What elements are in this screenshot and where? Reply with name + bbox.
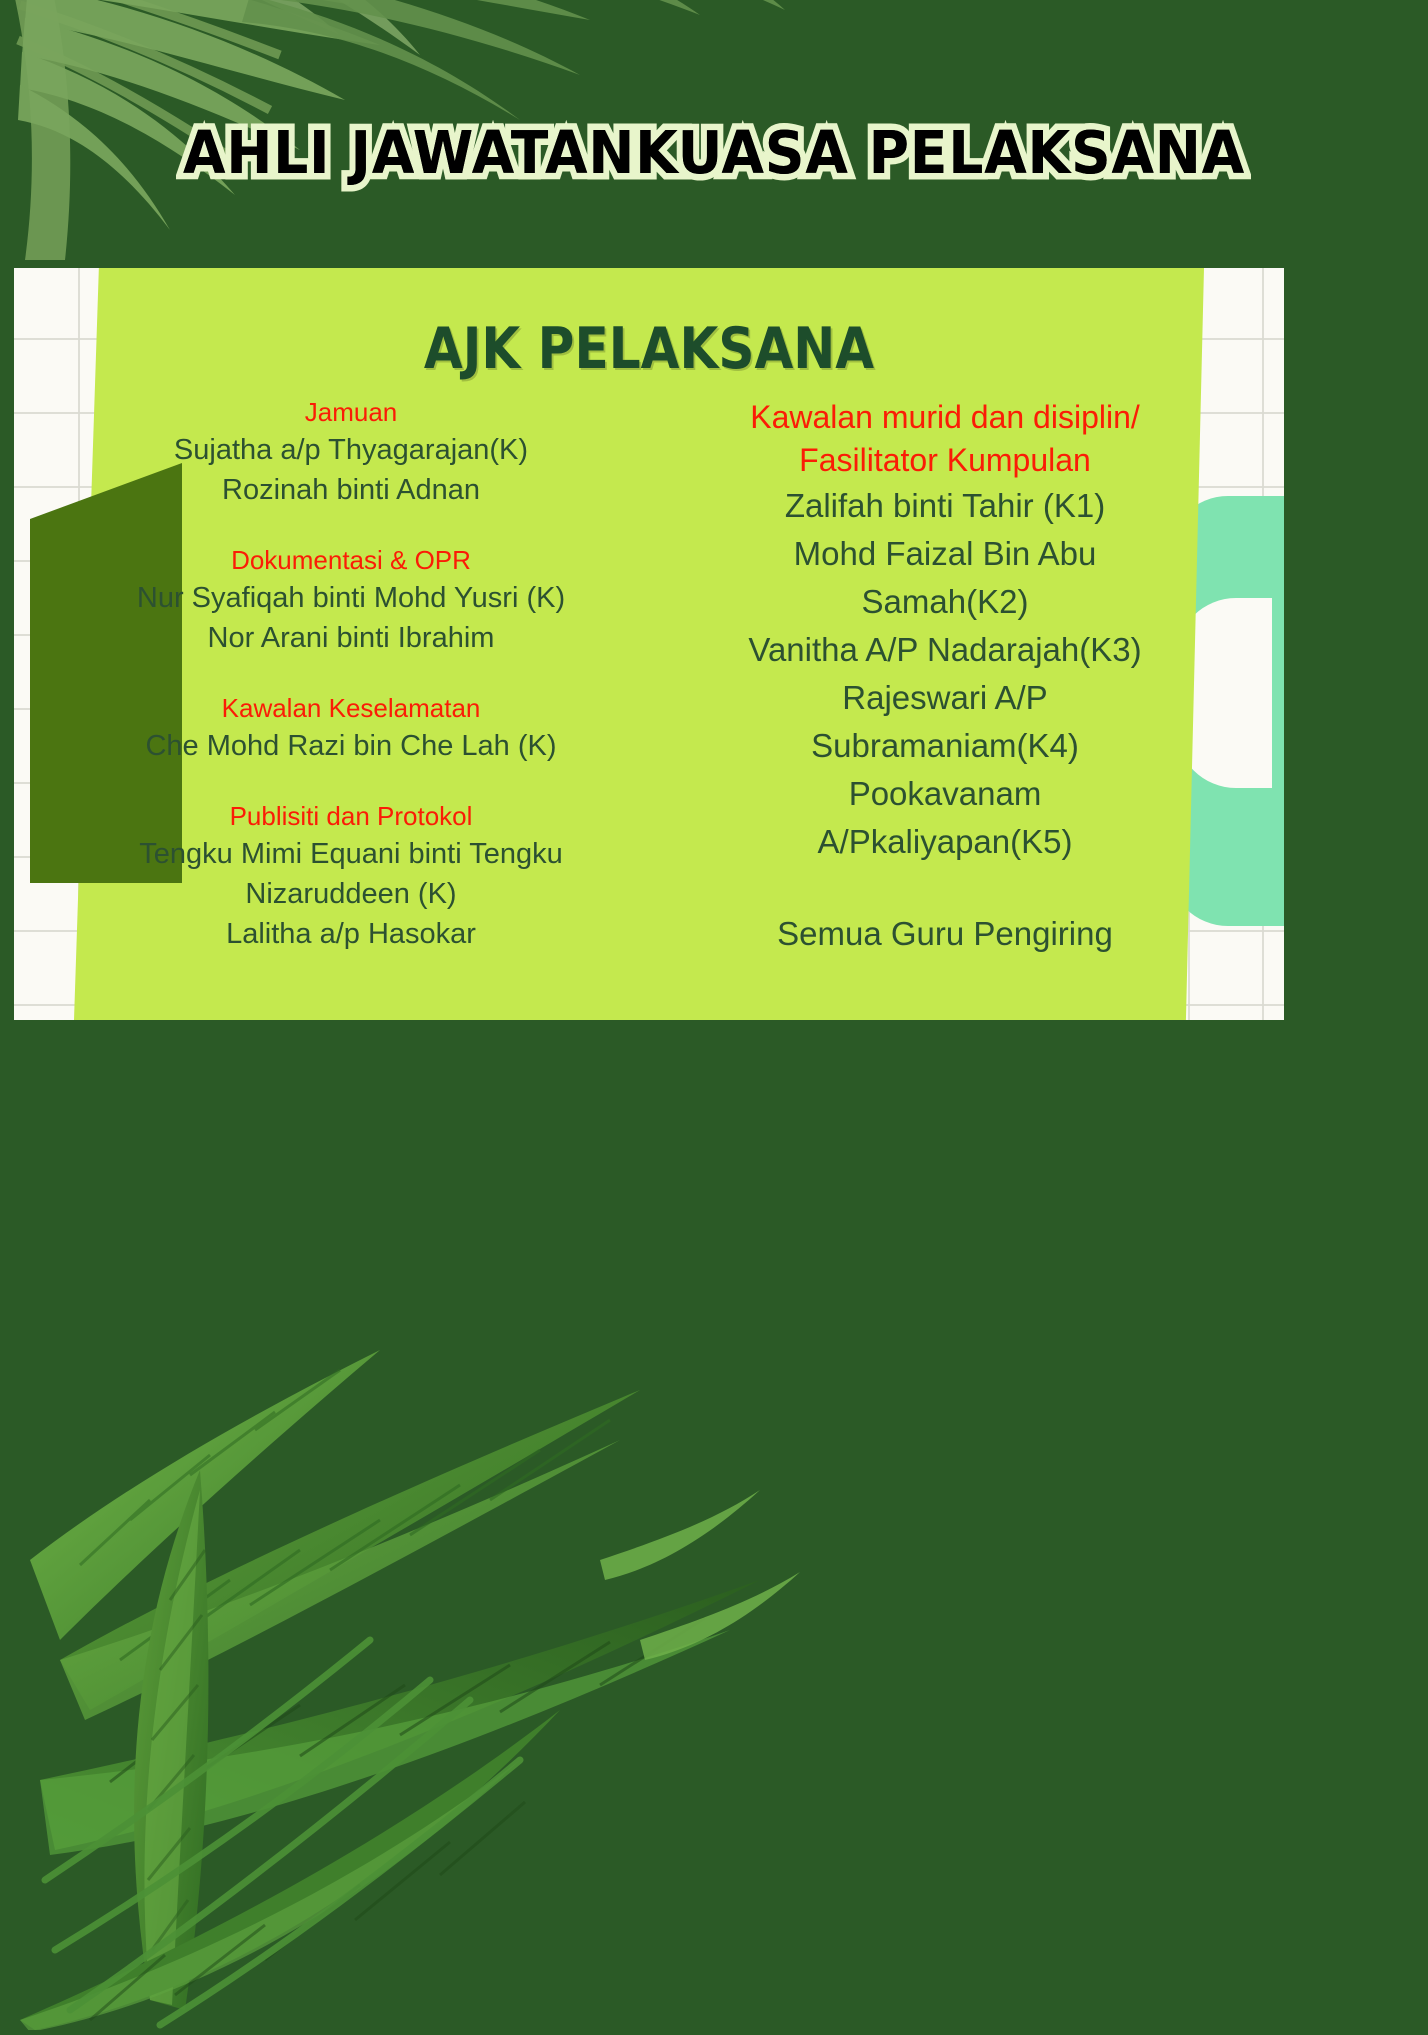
section-title: Jamuan bbox=[72, 396, 630, 428]
ajk-card: AJK PELAKSANA Jamuan Sujatha a/p Thyagar… bbox=[14, 268, 1284, 1020]
section-dokumentasi-opr: Dokumentasi & OPR Nur Syafiqah binti Moh… bbox=[72, 544, 630, 658]
member-name: Tengku Mimi Equani binti Tengku bbox=[72, 834, 630, 874]
member-name: Mohd Faizal Bin Abu bbox=[652, 530, 1238, 578]
section-kawalan-keselamatan: Kawalan Keselamatan Che Mohd Razi bin Ch… bbox=[72, 692, 630, 766]
member-name: Pookavanam bbox=[652, 770, 1238, 818]
member-name: Rozinah binti Adnan bbox=[72, 470, 630, 510]
palm-frond-bottom-left bbox=[0, 1020, 900, 2030]
section-title: Kawalan Keselamatan bbox=[72, 692, 630, 724]
member-name: Nur Syafiqah binti Mohd Yusri (K) bbox=[72, 578, 630, 618]
member-name: Lalitha a/p Hasokar bbox=[72, 914, 630, 954]
section-jamuan: Jamuan Sujatha a/p Thyagarajan(K) Rozina… bbox=[72, 396, 630, 510]
spacer bbox=[652, 866, 1238, 910]
member-name: Sujatha a/p Thyagarajan(K) bbox=[72, 430, 630, 470]
member-name: Nor Arani binti Ibrahim bbox=[72, 618, 630, 658]
right-column: Kawalan murid dan disiplin/ Fasilitator … bbox=[644, 396, 1284, 1016]
section-title: Publisiti dan Protokol bbox=[72, 800, 630, 832]
page-title: AHLI JAWATANKUASA PELAKSANA bbox=[183, 118, 1245, 187]
committee-columns: Jamuan Sujatha a/p Thyagarajan(K) Rozina… bbox=[14, 396, 1284, 1016]
section-title-line2: Fasilitator Kumpulan bbox=[652, 439, 1238, 482]
member-name: Nizaruddeen (K) bbox=[72, 874, 630, 914]
member-name: A/Pkaliyapan(K5) bbox=[652, 818, 1238, 866]
banner: AHLI JAWATANKUASA PELAKSANA bbox=[0, 118, 1428, 187]
section-title-line1: Kawalan murid dan disiplin/ bbox=[652, 396, 1238, 439]
member-name: Che Mohd Razi bin Che Lah (K) bbox=[72, 726, 630, 766]
member-name: Rajeswari A/P bbox=[652, 674, 1238, 722]
card-content: AJK PELAKSANA Jamuan Sujatha a/p Thyagar… bbox=[14, 268, 1284, 1020]
section-title: Dokumentasi & OPR bbox=[72, 544, 630, 576]
member-name: Vanitha A/P Nadarajah(K3) bbox=[652, 626, 1238, 674]
section-publisiti-protokol: Publisiti dan Protokol Tengku Mimi Equan… bbox=[72, 800, 630, 954]
card-heading: AJK PELAKSANA bbox=[90, 316, 1208, 382]
left-column: Jamuan Sujatha a/p Thyagarajan(K) Rozina… bbox=[14, 396, 644, 1016]
footer-note: Semua Guru Pengiring bbox=[652, 910, 1238, 958]
member-name: Samah(K2) bbox=[652, 578, 1238, 626]
member-name: Subramaniam(K4) bbox=[652, 722, 1238, 770]
member-name: Zalifah binti Tahir (K1) bbox=[652, 482, 1238, 530]
